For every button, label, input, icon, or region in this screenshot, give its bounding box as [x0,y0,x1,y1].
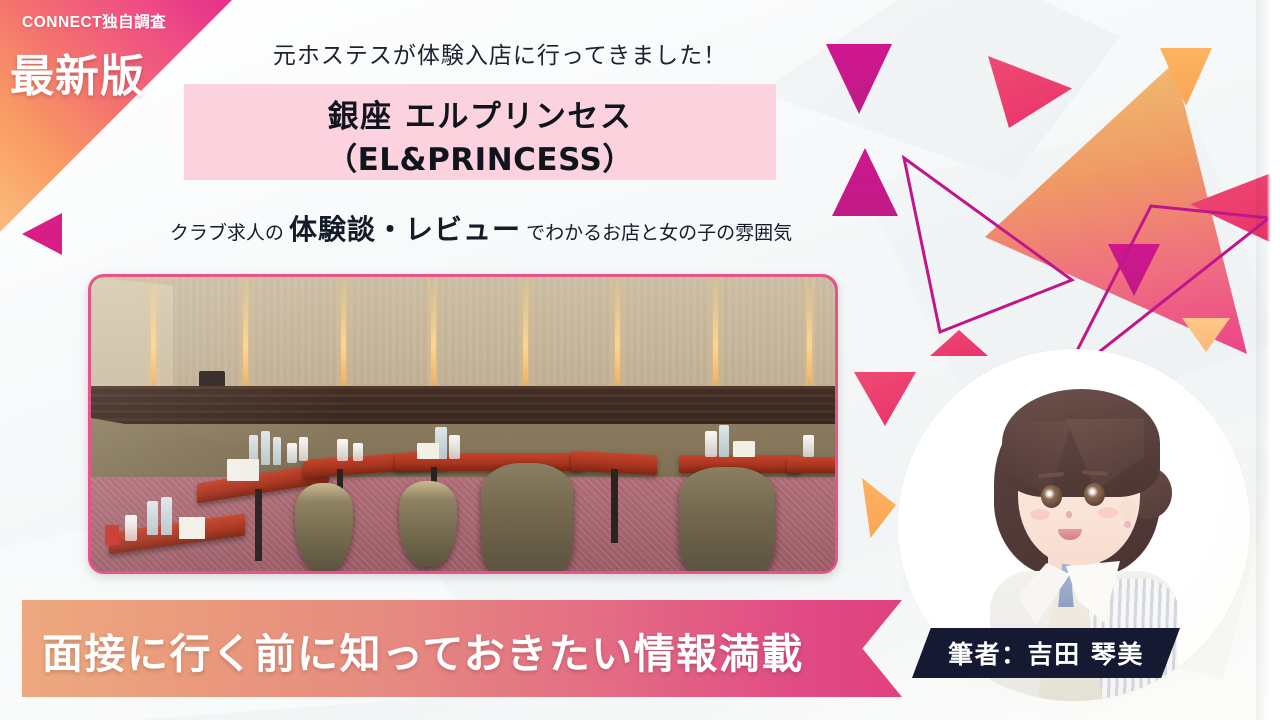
subtitle-line: クラブ求人の 体験談・レビュー でわかるお店と女の子の雰囲気 [0,208,962,248]
right-edge-shadow [1256,0,1280,720]
avatar-eye-left [1041,485,1062,508]
club-interior-photo [88,274,838,574]
avatar-nose [1066,511,1072,518]
avatar-earring [1124,521,1131,528]
subtitle-suffix: でわかるお店と女の子の雰囲気 [526,222,792,244]
poster-canvas: CONNECT独自調査 最新版 元ホステスが体験入店に行ってきました！ 銀座 エ… [0,0,1280,720]
avatar-eye-right [1084,483,1105,506]
title-highlight-box: 銀座 エルプリンセス （EL&PRINCESS） [184,84,776,180]
author-badge-label: 筆者：吉田 琴美 [912,628,1180,678]
avatar-cheek-right [1098,507,1118,518]
subtitle-emphasis: 体験談・レビュー [289,213,521,246]
page-title-line2: （EL&PRINCESS） [184,134,776,179]
avatar-cheek-left [1030,509,1050,520]
lead-text: 元ホステスが体験入店に行ってきました！ [0,36,1000,70]
photo-sheen [91,277,835,571]
subtitle-prefix: クラブ求人の [170,222,284,244]
avatar-ear [1120,497,1136,521]
ribbon-subtitle: CONNECT独自調査 [22,10,166,32]
bottom-banner-text: 面接に行く前に知っておきたい情報満載 [42,620,804,680]
page-title-line1: 銀座 エルプリンセス [184,91,776,136]
